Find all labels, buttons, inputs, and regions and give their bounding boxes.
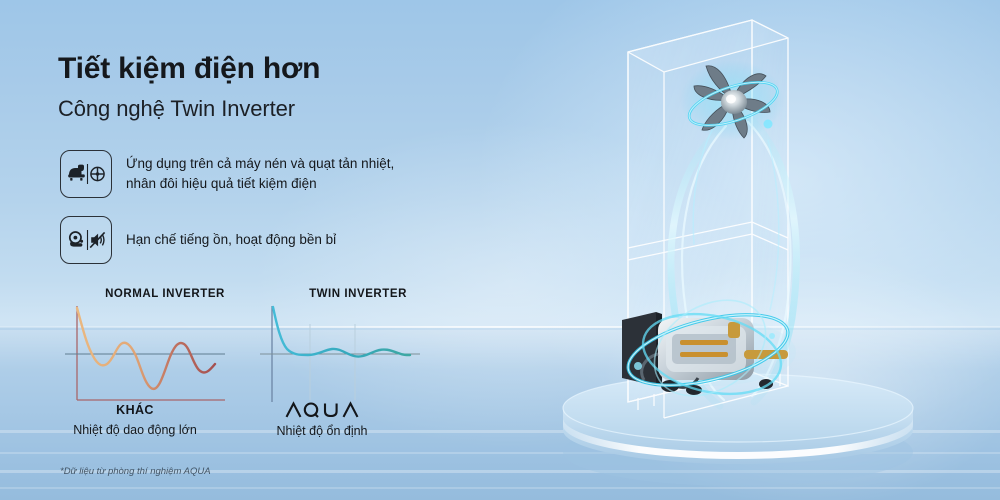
- compressor-icon: [70, 232, 83, 247]
- feature-icon-group: [60, 150, 112, 198]
- compressor-mute-icon: [66, 227, 106, 253]
- aqua-logo-icon: [285, 401, 359, 418]
- chart-legend-normal: KHÁC Nhiệt độ dao động lớn: [35, 403, 235, 437]
- chart-title: NORMAL INVERTER: [55, 288, 245, 300]
- feature-text: Ứng dụng trên cả máy nén và quạt tản nhi…: [126, 154, 394, 195]
- legend-description: Nhiệt độ dao động lớn: [35, 423, 235, 437]
- aqua-logo: [222, 400, 422, 418]
- chart-plot-twin: [250, 304, 425, 404]
- fan-icon: [91, 167, 104, 180]
- product-scene: [520, 0, 1000, 500]
- footnote-text: *Dữ liệu từ phòng thí nghiệm AQUA: [60, 466, 211, 477]
- page-subtitle: Công nghệ Twin Inverter: [58, 96, 295, 122]
- chart-series-line: [273, 307, 410, 357]
- feature-text: Hạn chế tiếng ồn, hoạt động bền bỉ: [126, 230, 336, 250]
- compressor-icon: [68, 165, 85, 181]
- speaker-mute-icon: [90, 232, 104, 247]
- compressor-fan-icon: [66, 161, 106, 187]
- chart-twin-inverter: TWIN INVERTER: [250, 288, 438, 404]
- feature-item: Ứng dụng trên cả máy nén và quạt tản nhi…: [60, 150, 394, 198]
- chart-plot-normal: [55, 304, 230, 404]
- legend-brand-other: KHÁC: [35, 403, 235, 417]
- banner-stage: Tiết kiệm điện hơn Công nghệ Twin Invert…: [0, 0, 1000, 500]
- feature-icon-group: [60, 216, 112, 264]
- feature-item: Hạn chế tiếng ồn, hoạt động bền bỉ: [60, 216, 336, 264]
- chart-series-line: [77, 308, 215, 389]
- chart-legend-twin: Nhiệt độ ổn định: [222, 400, 422, 438]
- page-title: Tiết kiệm điện hơn: [58, 52, 320, 86]
- fan-assembly: [680, 60, 784, 140]
- chart-normal-inverter: NORMAL INVERTER: [55, 288, 245, 404]
- display-podium: [563, 374, 913, 486]
- legend-description: Nhiệt độ ổn định: [222, 424, 422, 438]
- product-illustration: [520, 0, 1000, 500]
- chart-title: TWIN INVERTER: [250, 288, 438, 300]
